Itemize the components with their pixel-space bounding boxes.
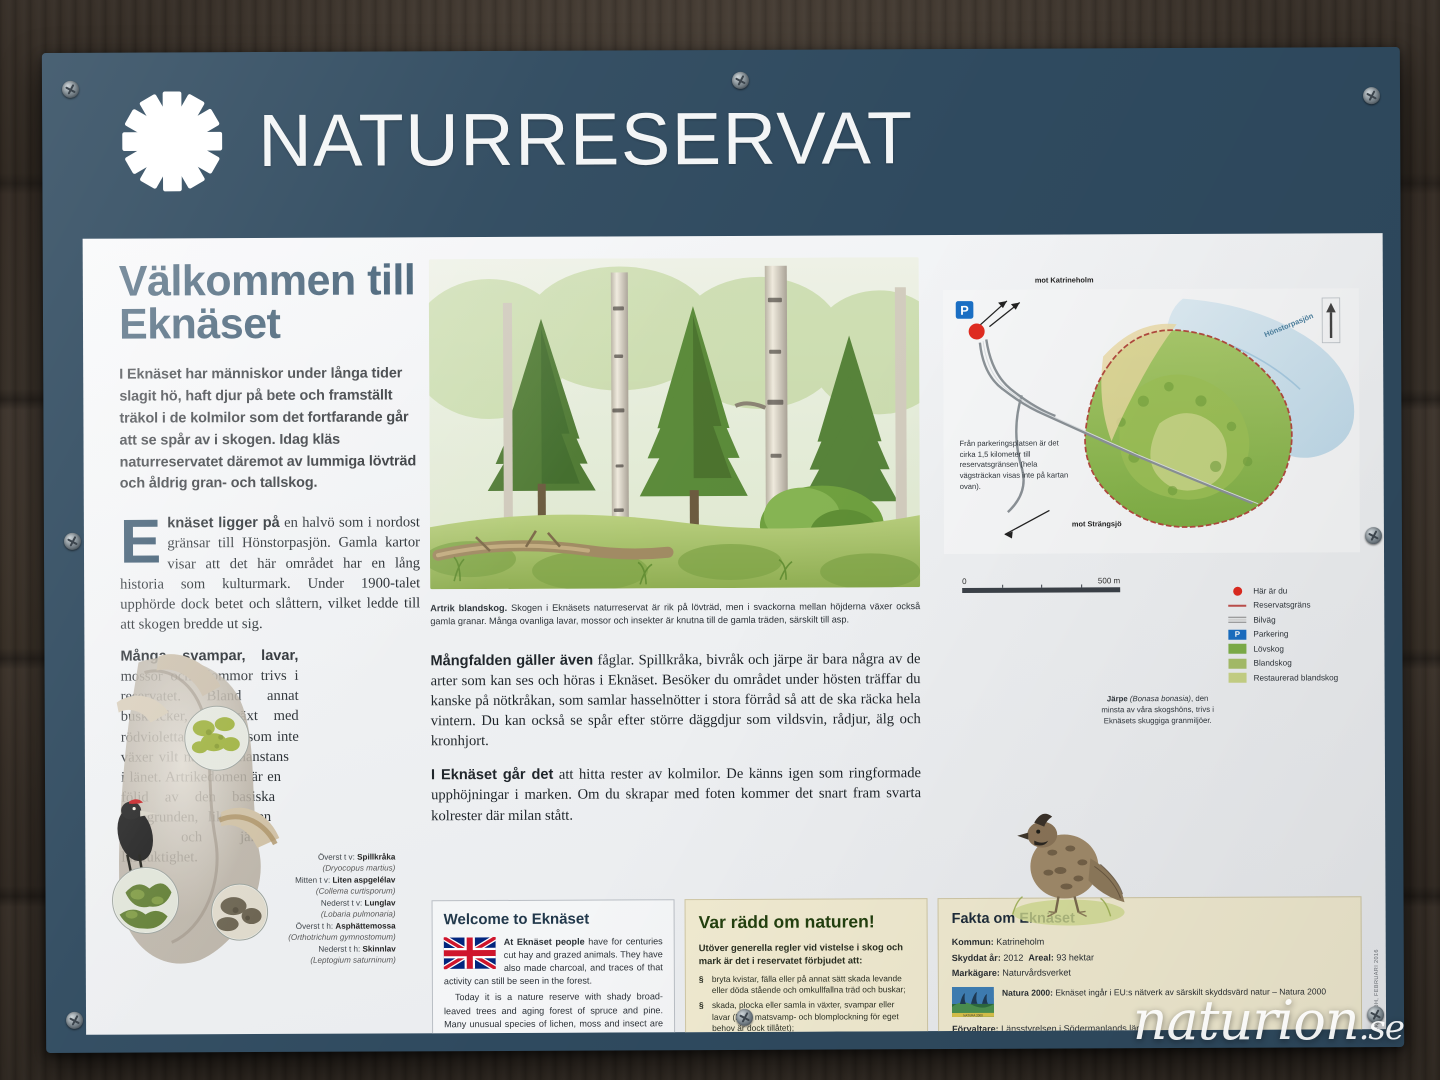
fact-protected-year-area: Skyddat år: 2012 Areal: 93 hektar bbox=[952, 950, 1348, 965]
map-label-katrineholm: mot Katrineholm bbox=[1035, 276, 1094, 285]
map-scale-bar: 0 500 m bbox=[962, 576, 1120, 593]
legend-item-restored: Restaurerad blandskog bbox=[1229, 672, 1379, 683]
scale-max: 500 m bbox=[1098, 576, 1120, 585]
charcoal-lead: I Eknäset går det bbox=[431, 767, 553, 784]
legend-parking-icon: P bbox=[1228, 629, 1246, 639]
rules-box-title: Var rädd om naturen! bbox=[699, 911, 914, 933]
map-distance-note: Från parkeringsplatsen är det cirka 1,5 … bbox=[960, 438, 1076, 492]
species-caption-item: Överst t v: Spillkråka(Dryocopus martius… bbox=[261, 851, 395, 875]
fact-manager: Förvaltare: Länsstyrelsen i Södermanland… bbox=[952, 1021, 1348, 1035]
screw-top-center bbox=[732, 72, 749, 89]
species-caption-item: Mitten t v: Liten aspgelélav(Collema cur… bbox=[261, 874, 395, 898]
left-column: Välkommen till Eknäset I Eknäset har män… bbox=[119, 259, 422, 893]
screw-bottom-left bbox=[66, 1012, 83, 1029]
natura-2000-row: NATURA 2000 Natura 2000: Eknäset ingår i… bbox=[952, 985, 1348, 1017]
species-caption-list: Överst t v: Spillkråka(Dryocopus martius… bbox=[261, 851, 395, 966]
map-label-strangsjo: mot Strängsjö bbox=[1072, 520, 1122, 529]
species-caption-item: Nederst t v: Lunglav(Lobaria pulmonaria) bbox=[262, 897, 396, 921]
middle-column: Artrik blandskog. Skogen i Eknäsets natu… bbox=[429, 257, 922, 892]
uk-flag-icon bbox=[444, 937, 496, 969]
nature-reserve-asterisk-icon bbox=[120, 89, 224, 193]
history-paragraph: E knäset ligger på en halvö som i nordos… bbox=[120, 513, 421, 635]
legend-item-road: Bilväg bbox=[1228, 614, 1378, 625]
map-graphic: P bbox=[943, 255, 1360, 587]
species-caption-item: Överst t h: Asphättemossa(Orthotrichum g… bbox=[262, 920, 396, 944]
species-caption-item: Nederst t h: Skinnlav(Leptogium saturnin… bbox=[262, 943, 396, 967]
reserve-rules-box: Var rädd om naturen! Utöver generella re… bbox=[685, 898, 929, 1035]
sign-content-board: Välkommen till Eknäset I Eknäset har män… bbox=[83, 233, 1386, 1035]
fact-landowner: Markägare: Naturvårdsverket bbox=[952, 965, 1348, 980]
fact-kommun: Kommun: Katrineholm bbox=[952, 934, 1348, 949]
screw-top-left bbox=[62, 81, 79, 98]
species-lead: Många svampar, lavar, bbox=[120, 648, 298, 665]
screw-mid-left bbox=[64, 533, 81, 550]
history-lead: knäset ligger på bbox=[167, 515, 280, 531]
text-wrap-spacer bbox=[302, 645, 420, 646]
welcome-box-title: Welcome to Eknäset bbox=[444, 910, 663, 928]
legend-item-mixed: Blandskog bbox=[1228, 658, 1378, 669]
screw-mid-right bbox=[1365, 527, 1382, 544]
legend-item-here: Här är du bbox=[1228, 585, 1378, 596]
legend-boundary-line-icon bbox=[1228, 600, 1246, 610]
natura-2000-logo-icon: NATURA 2000 bbox=[952, 986, 994, 1016]
map-legend: Här är du Reservatsgräns Bilväg P Parker… bbox=[1228, 585, 1378, 687]
legend-road-icon bbox=[1228, 615, 1246, 625]
reserve-map: P mot Katrineholm mot Strängsjö Hön bbox=[943, 255, 1360, 587]
welcome-paragraph-2: Today it is a nature reserve with shady … bbox=[444, 991, 663, 1035]
charcoal-paragraph: I Eknäset går det att hitta rester av ko… bbox=[431, 763, 921, 826]
legend-item-boundary: Reservatsgräns bbox=[1228, 600, 1378, 611]
birds-paragraph: Mångfalden gäller även fåglar. Spillkråk… bbox=[430, 649, 920, 752]
legend-item-parking: P Parkering bbox=[1228, 629, 1378, 640]
drop-cap: E bbox=[120, 518, 162, 568]
you-are-here-marker bbox=[969, 323, 985, 339]
screw-top-right bbox=[1363, 87, 1380, 104]
svg-text:P: P bbox=[960, 303, 969, 318]
scale-min: 0 bbox=[962, 577, 966, 586]
history-text: en halvö som i nordost gränsar till Höns… bbox=[120, 515, 420, 633]
legend-swatch-lovskog bbox=[1228, 644, 1246, 654]
screw-bottom-right bbox=[1367, 1006, 1384, 1023]
sign-header: NATURRESERVAT bbox=[42, 47, 1401, 231]
intro-paragraph: I Eknäset har människor under långa tide… bbox=[119, 363, 420, 496]
species-paragraph: Många svampar, lavar, mossor och blommor… bbox=[120, 645, 421, 868]
forest-caption-lead: Artrik blandskog. bbox=[430, 603, 507, 613]
legend-item-deciduous: Lövskog bbox=[1228, 643, 1378, 654]
forest-caption: Artrik blandskog. Skogen i Eknäsets natu… bbox=[430, 600, 920, 629]
welcome-title: Välkommen till Eknäset bbox=[119, 259, 419, 346]
map-column: P mot Katrineholm mot Strängsjö Hön bbox=[929, 255, 1362, 890]
rules-lead: Utöver generella regler vid vistelse i s… bbox=[699, 940, 914, 968]
parking-marker-icon: P bbox=[956, 301, 974, 319]
hazel-grouse-illustration bbox=[990, 774, 1141, 935]
forest-watercolor-illustration bbox=[429, 257, 920, 589]
page-title-header: NATURRESERVAT bbox=[258, 101, 914, 178]
legend-swatch-restaurerad bbox=[1229, 673, 1247, 683]
grouse-latin: (Bonasa bonasia) bbox=[1130, 694, 1191, 703]
screw-bottom-center bbox=[736, 1009, 753, 1026]
rule-item: §skada, plocka eller samla in växter, sv… bbox=[699, 999, 914, 1035]
legend-dot-icon bbox=[1228, 586, 1246, 596]
top-row: Välkommen till Eknäset I Eknäset har män… bbox=[119, 255, 1362, 893]
natura-2000-text: Natura 2000: Eknäset ingår i EU:s nätver… bbox=[1002, 985, 1326, 1016]
grouse-name: Järpe bbox=[1107, 694, 1128, 703]
svg-text:NATURA 2000: NATURA 2000 bbox=[963, 1013, 983, 1017]
grouse-caption: Järpe (Bonasa bonasia), den minsta av vå… bbox=[1099, 694, 1217, 727]
information-sign-panel: NATURRESERVAT Välkommen till Eknäset I E… bbox=[42, 47, 1404, 1053]
birds-lead: Mångfalden gäller även bbox=[430, 652, 593, 669]
welcome-english-box: Welcome to Eknäset At Eknäset people hav… bbox=[432, 899, 676, 1034]
legend-swatch-blandskog bbox=[1228, 658, 1246, 668]
north-arrow-icon bbox=[1322, 298, 1340, 343]
rule-item: §bryta kvistar, fälla eller på annat sät… bbox=[699, 973, 914, 997]
